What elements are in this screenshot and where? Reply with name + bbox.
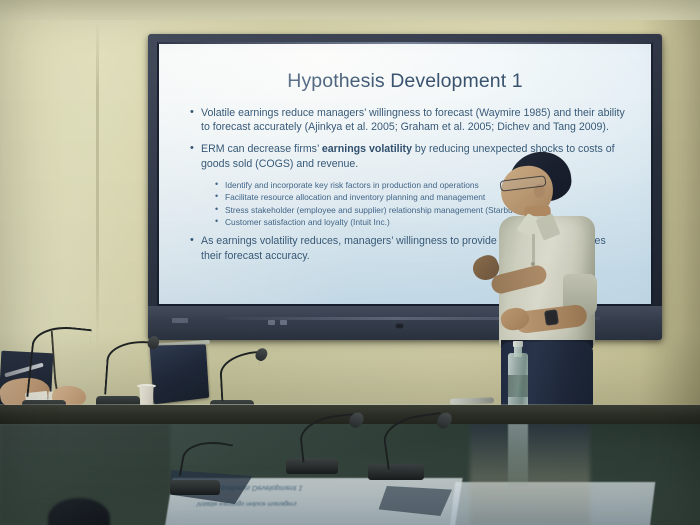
bezel-glint [158, 42, 652, 44]
microphone-gooseneck [26, 323, 91, 403]
bottle-reflection [508, 424, 528, 486]
display-ir-sensor [395, 323, 404, 329]
bullet-item: Volatile earnings reduce managers’ willi… [189, 106, 625, 134]
wristwatch-icon [544, 309, 559, 326]
wall-seam [96, 20, 99, 350]
bullet-text-bold: earnings volatility [322, 143, 412, 155]
display-power-button[interactable] [268, 320, 275, 325]
bullet-text: Volatile earnings reduce managers’ willi… [201, 107, 625, 133]
display-menu-button[interactable] [280, 320, 287, 325]
microphone-base [170, 480, 220, 495]
display-logo [172, 318, 188, 323]
bullet-text: ERM can decrease firms’ [201, 143, 322, 155]
slide-title: Hypothesis Development 1 [179, 70, 631, 93]
bottle-label [508, 375, 528, 397]
shirt-placket [532, 234, 535, 264]
laptop-screen[interactable] [150, 344, 210, 404]
lecture-room-scene: Hypothesis Development 1 Volatile earnin… [0, 0, 700, 525]
